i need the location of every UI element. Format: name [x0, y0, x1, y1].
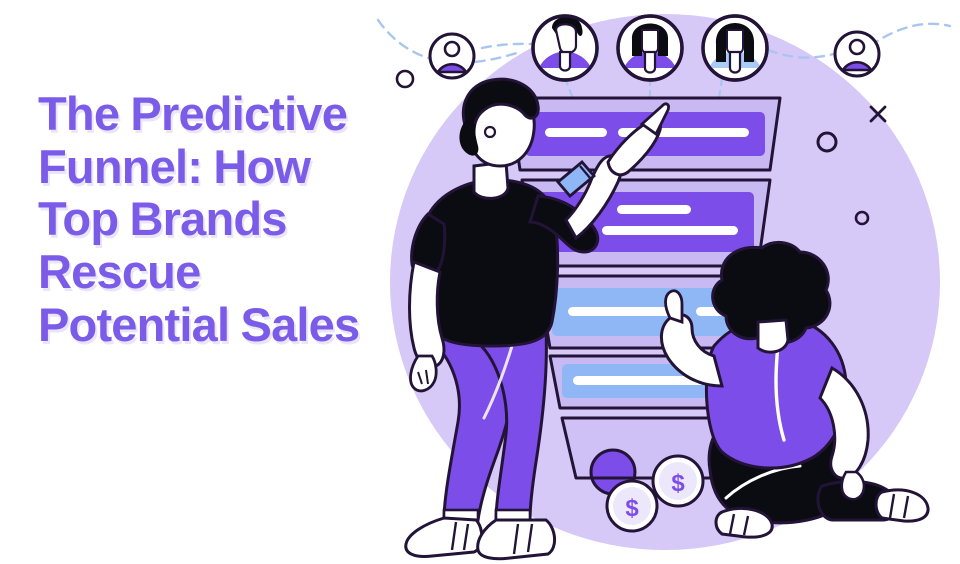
banner-root: The Predictive Funnel: How Top Brands Re…	[0, 0, 960, 564]
stage-2-line-a	[617, 205, 691, 214]
avatar-center-3[interactable]	[703, 16, 767, 80]
stage-1-line-a	[545, 128, 607, 137]
stage-3-line-a	[568, 307, 672, 316]
avatar-center-2[interactable]	[618, 16, 682, 80]
coin-left[interactable]: $	[607, 481, 657, 531]
illustration-svg: $ $	[370, 0, 960, 564]
ring-left-small	[397, 71, 413, 87]
coin-right-symbol: $	[671, 470, 685, 497]
coin-right[interactable]: $	[653, 456, 703, 506]
avatar-far-left[interactable]	[430, 34, 474, 78]
headline-block: The Predictive Funnel: How Top Brands Re…	[38, 88, 378, 351]
hero-illustration: $ $	[370, 0, 960, 564]
coin-left-symbol: $	[625, 495, 639, 522]
avatar-far-right[interactable]	[835, 32, 879, 76]
page-title: The Predictive Funnel: How Top Brands Re…	[38, 88, 378, 351]
stage-4-line-a	[573, 376, 705, 385]
stage-2-line-b	[602, 226, 738, 235]
avatar-center-1[interactable]	[533, 16, 597, 80]
